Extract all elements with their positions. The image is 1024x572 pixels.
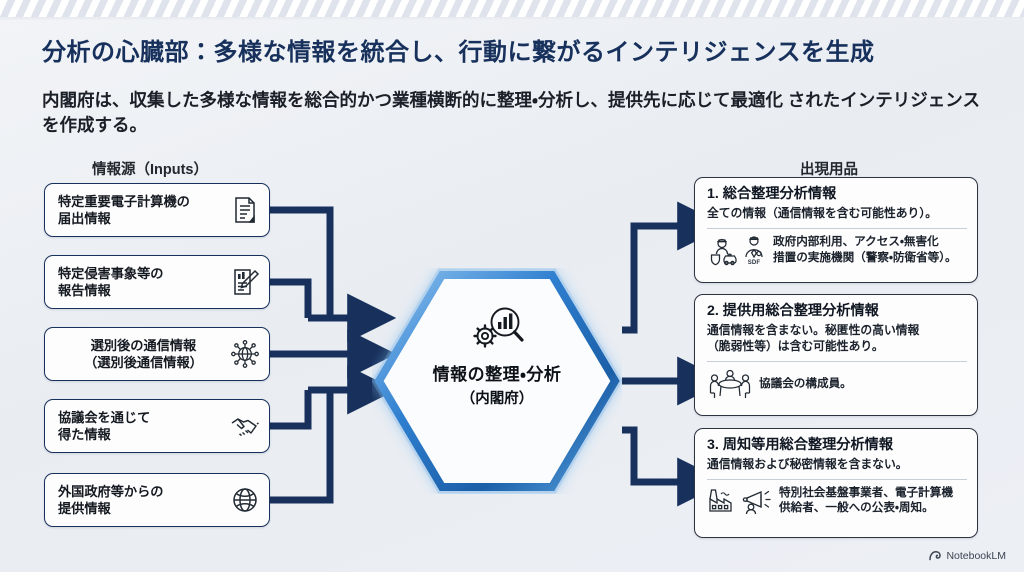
output-card-2-icons	[707, 485, 773, 515]
output-card-1-note: 協議会の構成員。	[759, 376, 852, 392]
divider	[707, 228, 967, 229]
page-subtitle: 内閣府は、収集した多様な情報を総合的かつ業種横断的に整理・分析し、提供先に応じて…	[42, 88, 982, 139]
output-card-1[interactable]: 2. 提供用総合整理分析情報 通信情報を含まない。秘匿性の高い情報 （脆弱性等）…	[694, 294, 978, 416]
divider	[707, 361, 967, 362]
output-card-2-note: 特別社会基盤事業者、電子計算機 供給者、一般への公表・周知。	[779, 485, 953, 516]
output-card-0[interactable]: 1. 総合整理分析情報 全ての情報（通信情報を含む可能性あり）。	[694, 177, 978, 283]
sdf-icon-caption: SDF	[748, 260, 761, 266]
megaphone-announcement-icon	[741, 485, 773, 515]
watermark-label: NotebookLM	[946, 550, 1006, 562]
output-card-0-title: 1. 総合整理分析情報	[707, 186, 967, 204]
page-title: 分析の心臓部：多様な情報を統合し、行動に繋がるインテリジェンスを生成	[42, 32, 875, 67]
factory-icon	[707, 485, 737, 515]
output-card-1-icons	[707, 367, 753, 401]
input-card-4[interactable]: 外国政府等からの 提供情報	[44, 473, 270, 527]
input-card-3-label: 協議会を通じて 得た情報	[58, 409, 229, 444]
gear-analytics-icon	[465, 304, 529, 354]
outputs-column-caption: 出現用品	[800, 158, 858, 179]
sdf-officer-icon: SDF	[741, 234, 767, 266]
input-card-0[interactable]: 特定重要電子計算機の 届出情報	[44, 183, 270, 237]
hexagon-shape	[372, 268, 622, 494]
globe-icon	[229, 484, 261, 516]
top-stripe-banner	[0, 0, 1024, 17]
notebooklm-logo-icon	[929, 550, 941, 562]
input-card-2-label: 選別後の通信情報 （選別後通信情報）	[58, 337, 229, 372]
output-card-2-title: 3. 周知等用総合整理分析情報	[707, 437, 967, 455]
slide-canvas: 分析の心臓部：多様な情報を統合し、行動に繋がるインテリジェンスを生成 内閣府は、…	[0, 0, 1024, 572]
output-card-1-title: 2. 提供用総合整理分析情報	[707, 303, 967, 321]
input-card-4-label: 外国政府等からの 提供情報	[58, 483, 229, 518]
inputs-column-caption: 情報源（Inputs）	[92, 158, 208, 179]
output-card-0-note: 政府内部利用、アクセス・無害化 措置の実施機関（警察・防衛省等）。	[773, 234, 957, 265]
input-card-0-label: 特定重要電子計算機の 届出情報	[58, 193, 229, 228]
notebooklm-watermark: NotebookLM	[929, 550, 1006, 562]
meeting-table-icon	[707, 367, 753, 401]
output-card-1-description: 通信情報を含まない。秘匿性の高い情報 （脆弱性等）は含む可能性あり。	[707, 323, 967, 355]
report-edit-icon	[229, 266, 261, 298]
output-card-0-description: 全ての情報（通信情報を含む可能性あり）。	[707, 206, 967, 222]
input-card-2[interactable]: 選別後の通信情報 （選別後通信情報）	[44, 327, 270, 381]
output-card-2[interactable]: 3. 周知等用総合整理分析情報 通信情報および秘密情報を含まない。	[694, 428, 978, 538]
divider	[707, 479, 967, 480]
output-card-0-icons: SDF	[707, 234, 767, 266]
input-card-1[interactable]: 特定侵害事象等の 報告情報	[44, 255, 270, 309]
police-officer-icon	[707, 236, 737, 266]
handshake-icon	[229, 410, 261, 442]
input-card-1-label: 特定侵害事象等の 報告情報	[58, 265, 229, 300]
input-card-3[interactable]: 協議会を通じて 得た情報	[44, 399, 270, 453]
banner-shadow	[0, 17, 1024, 20]
document-icon	[229, 194, 261, 226]
central-hub-node[interactable]: 情報の整理・分析 （内閣府）	[372, 268, 622, 494]
output-card-2-description: 通信情報および秘密情報を含まない。	[707, 457, 967, 473]
network-node-icon	[229, 338, 261, 370]
